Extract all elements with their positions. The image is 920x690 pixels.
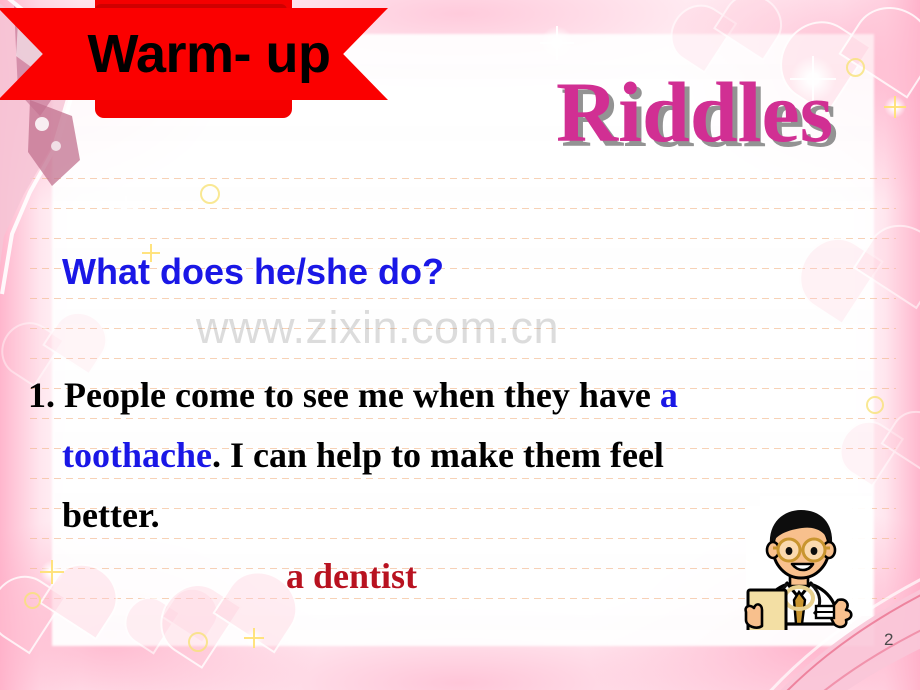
riddle-answer: a dentist xyxy=(286,552,417,600)
sparkle-decoration xyxy=(104,196,148,240)
sparkle-decoration xyxy=(40,560,64,584)
ring-decoration xyxy=(188,632,208,652)
ring-decoration xyxy=(866,396,884,414)
ring-decoration xyxy=(846,58,865,77)
dentist-illustration xyxy=(742,502,860,630)
riddle-number: 1. xyxy=(28,375,55,415)
heart-decoration xyxy=(864,425,920,483)
ring-decoration xyxy=(24,592,41,609)
page-number: 2 xyxy=(884,630,893,650)
ring-decoration xyxy=(200,184,220,204)
page-title: Riddles xyxy=(556,66,833,158)
watermark-text: www.zixin.com.cn xyxy=(196,302,559,354)
riddle-line2-highlight: toothache xyxy=(62,435,212,475)
sparkle-decoration xyxy=(540,26,574,60)
slide-canvas: Warm- up Riddles www.zixin.com.cn What d… xyxy=(0,0,920,690)
riddle-line1-highlight: a xyxy=(660,375,678,415)
sparkle-decoration xyxy=(244,628,264,648)
sparkle-decoration xyxy=(884,96,906,118)
riddle-line2-text: . I can help to make them feel xyxy=(212,435,664,475)
riddle-line1-text: People come to see me when they have xyxy=(55,375,660,415)
dentist-cartoon-icon xyxy=(742,502,860,630)
riddle-line2: toothache. I can help to make them feel xyxy=(28,425,868,485)
banner-label: Warm- up xyxy=(44,20,374,88)
warm-up-banner: Warm- up xyxy=(0,0,400,125)
question-heading: What does he/she do? xyxy=(62,250,444,294)
